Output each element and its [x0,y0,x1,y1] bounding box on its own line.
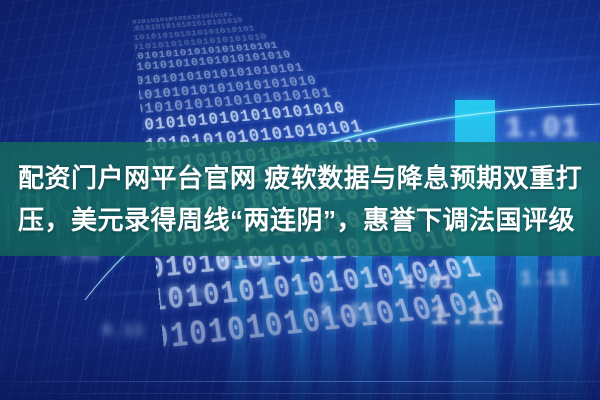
bottom-vignette [0,250,600,400]
stock-news-banner: 0101010101010101010101101010101010101010… [0,0,600,400]
headline-line-2: 压，美元录得周线“两连阴”，惠誉下调法国评级 [18,199,582,241]
bottom-divider-line [0,393,600,394]
headline-text-block: 配资门户网平台官网 疲软数据与降息预期双重打 压，美元录得周线“两连阴”，惠誉下… [0,142,600,256]
floating-number: 1.01 [505,112,579,146]
bottom-divider-line [0,381,600,382]
headline-line-1: 配资门户网平台官网 疲软数据与降息预期双重打 [18,157,582,199]
